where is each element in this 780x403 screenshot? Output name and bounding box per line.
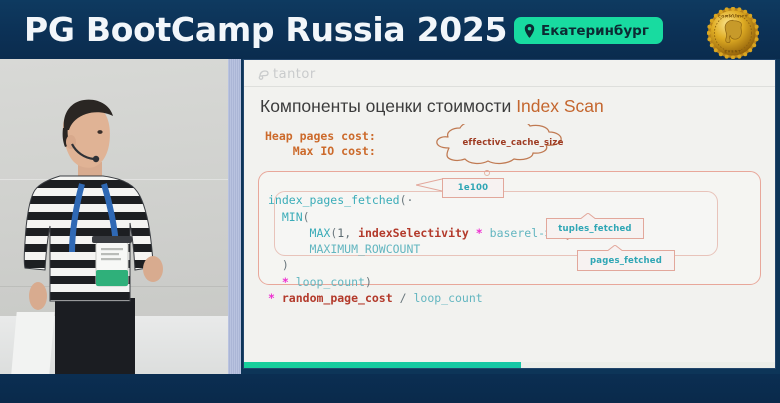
- city-badge: Екатеринбург: [514, 17, 663, 44]
- tantor-logo-icon: [258, 69, 270, 81]
- callout-tuples-fetched: tuples_fetched: [546, 218, 644, 239]
- callout-1e100-label: 1e100: [458, 183, 488, 193]
- slide-progress-fill: [244, 362, 521, 368]
- location-pin-icon: [524, 24, 535, 38]
- slide-title-accent: Index Scan: [516, 96, 604, 116]
- speaker-figure: [8, 84, 183, 374]
- screen-edge-strip: [228, 59, 243, 374]
- slide-title-plain: Компоненты оценки стоимости: [260, 96, 516, 116]
- cloud-callout-label: effective_cache_size: [419, 138, 607, 148]
- callout-tuples-fetched-label: tuples_fetched: [558, 224, 631, 234]
- community-event-medal-icon: COMMUNITY EVENT: [707, 7, 759, 59]
- presentation-slide: tantor Компоненты оценки стоимости Index…: [243, 59, 776, 369]
- cost-components-text: Heap pages cost: Max IO cost:: [265, 129, 376, 159]
- slide-divider: [244, 86, 775, 87]
- callout-1e100: 1e100: [442, 178, 504, 198]
- event-banner: PG BootCamp Russia 2025 Екатеринбург: [0, 0, 780, 59]
- callout-pages-fetched-label: pages_fetched: [590, 256, 662, 266]
- code-block: index_pages_fetched(· MIN( MAX(1, indexS…: [268, 176, 607, 323]
- event-title: PG BootCamp Russia 2025: [24, 10, 507, 49]
- tantor-logo: tantor: [258, 67, 316, 82]
- callout-tab: [579, 213, 597, 219]
- slide-progress-track: [244, 362, 776, 368]
- city-badge-label: Екатеринбург: [541, 23, 649, 39]
- tantor-logo-text: tantor: [273, 67, 316, 82]
- speaker-photo: [0, 59, 228, 374]
- callout-pages-fetched: pages_fetched: [577, 250, 675, 271]
- stage-area: tantor Компоненты оценки стоимости Index…: [0, 59, 780, 403]
- svg-text:COMMUNITY: COMMUNITY: [718, 15, 748, 19]
- slide-title: Компоненты оценки стоимости Index Scan: [260, 96, 604, 117]
- svg-text:EVENT: EVENT: [724, 50, 741, 54]
- stage-floor-band: [0, 374, 780, 403]
- callout-tab: [606, 245, 624, 251]
